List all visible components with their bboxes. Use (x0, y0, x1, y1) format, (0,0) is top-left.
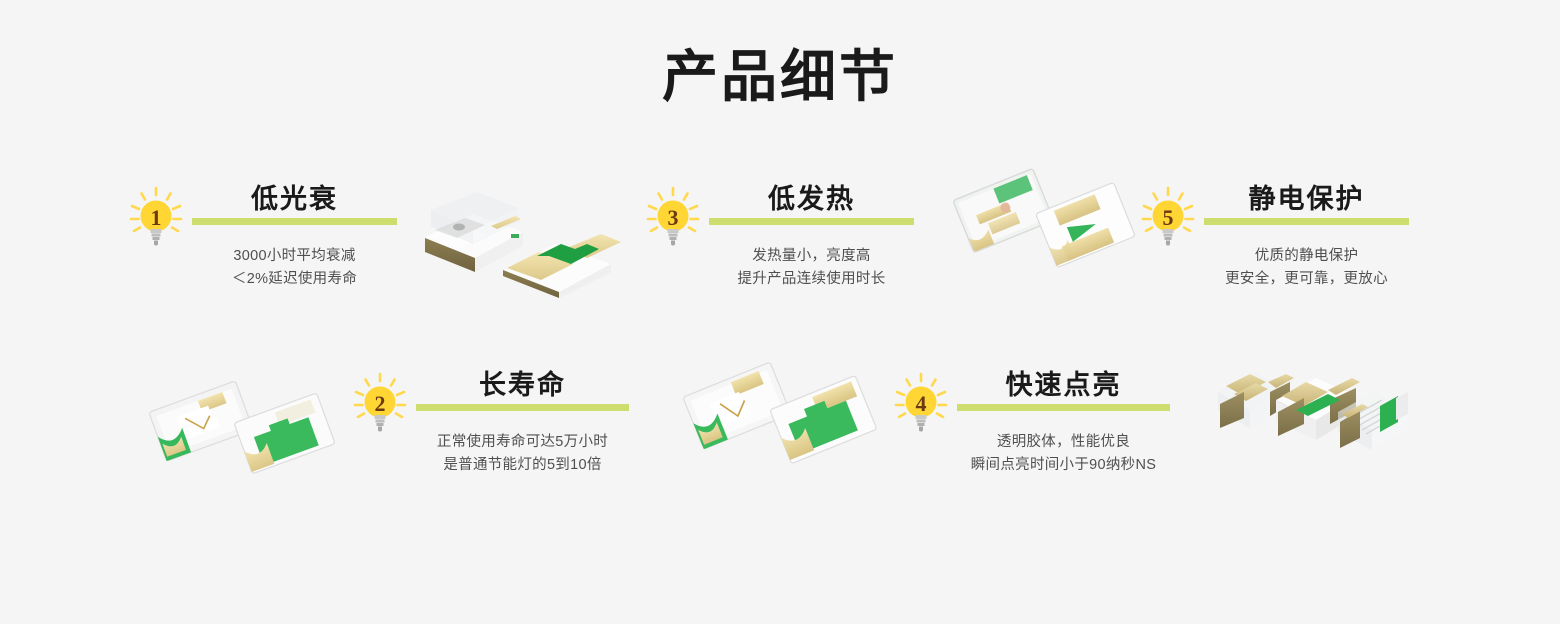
feature-title-5: 静电保护 (1204, 182, 1409, 216)
feature-body-1: 低光衰 3000小时平均衰减 ＜2%延迟使用寿命 (184, 182, 397, 291)
led-render-5 (1210, 348, 1415, 476)
led-render-2 (945, 160, 1135, 280)
feature-number-4: 4 (916, 391, 927, 416)
feature-body-3: 低发热 发热量小，亮度高 提升产品连续使用时长 (701, 182, 914, 291)
page-title: 产品细节 (0, 42, 1560, 112)
feature-description-1: 3000小时平均衰减 ＜2%延迟使用寿命 (192, 245, 397, 291)
smd-led-pair-clear-and-green-die (415, 186, 630, 301)
lightbulb-icon-svg: 5 (1140, 186, 1196, 248)
feature-number-1: 1 (151, 205, 162, 230)
lightbulb-icon: 2 (352, 372, 408, 434)
led-render-1 (415, 186, 630, 301)
led-render-4 (678, 348, 878, 476)
feature-description-2: 正常使用寿命可达5万小时 是普通节能灯的5到10倍 (416, 431, 629, 477)
lightbulb-icon-svg: 2 (352, 372, 408, 434)
feature-underline-1 (192, 218, 397, 225)
smd-led-pair-green-pad (145, 365, 335, 485)
feature-title-1: 低光衰 (192, 182, 397, 216)
lightbulb-icon-svg: 4 (893, 372, 949, 434)
feature-desc-line-2b: 是普通节能灯的5到10倍 (416, 454, 629, 477)
feature-desc-line-3b: 提升产品连续使用时长 (709, 268, 914, 291)
feature-number-3: 3 (668, 205, 679, 230)
feature-block-1: 1 低光衰 3000小时平均衰减 ＜2%延迟使用寿命 (128, 182, 397, 291)
feature-desc-line-5b: 更安全，更可靠，更放心 (1204, 268, 1409, 291)
feature-underline-2 (416, 404, 629, 411)
feature-desc-line-1a: 3000小时平均衰减 (192, 245, 397, 268)
feature-title-3: 低发热 (709, 182, 914, 216)
feature-block-4: 4 快速点亮 透明胶体，性能优良 瞬间点亮时间小于90纳秒NS (893, 368, 1170, 477)
product-detail-page: 产品细节 1 (0, 0, 1560, 624)
lightbulb-icon: 5 (1140, 186, 1196, 248)
feature-number-5: 5 (1163, 205, 1174, 230)
feature-body-2: 长寿命 正常使用寿命可达5万小时 是普通节能灯的5到10倍 (408, 368, 629, 477)
feature-title-2: 长寿命 (416, 368, 629, 402)
feature-number-2: 2 (375, 391, 386, 416)
feature-underline-3 (709, 218, 914, 225)
lightbulb-icon-svg: 3 (645, 186, 701, 248)
feature-desc-line-1b: ＜2%延迟使用寿命 (192, 268, 397, 291)
feature-desc-line-3a: 发热量小，亮度高 (709, 245, 914, 268)
feature-title-4: 快速点亮 (957, 368, 1170, 402)
lightbulb-icon-svg: 1 (128, 186, 184, 248)
smd-led-pair-green-triangle (945, 160, 1135, 280)
feature-block-5: 5 静电保护 优质的静电保护 更安全，更可靠，更放心 (1140, 182, 1409, 291)
feature-block-3: 3 低发热 发热量小，亮度高 提升产品连续使用时长 (645, 182, 914, 291)
feature-underline-5 (1204, 218, 1409, 225)
feature-desc-line-4a: 透明胶体，性能优良 (957, 431, 1170, 454)
feature-body-4: 快速点亮 透明胶体，性能优良 瞬间点亮时间小于90纳秒NS (949, 368, 1170, 477)
led-render-3 (145, 365, 335, 485)
feature-desc-line-4b: 瞬间点亮时间小于90纳秒NS (957, 454, 1170, 477)
feature-block-2: 2 长寿命 正常使用寿命可达5万小时 是普通节能灯的5到10倍 (352, 368, 629, 477)
feature-description-3: 发热量小，亮度高 提升产品连续使用时长 (709, 245, 914, 291)
feature-underline-4 (957, 404, 1170, 411)
feature-desc-line-5a: 优质的静电保护 (1204, 245, 1409, 268)
lightbulb-icon: 1 (128, 186, 184, 248)
feature-description-4: 透明胶体，性能优良 瞬间点亮时间小于90纳秒NS (957, 431, 1170, 477)
lightbulb-icon: 3 (645, 186, 701, 248)
smd-led-trio-side-view (1210, 348, 1415, 476)
smd-led-pair-gold-pads (678, 348, 878, 476)
feature-desc-line-2a: 正常使用寿命可达5万小时 (416, 431, 629, 454)
feature-description-5: 优质的静电保护 更安全，更可靠，更放心 (1204, 245, 1409, 291)
lightbulb-icon: 4 (893, 372, 949, 434)
feature-body-5: 静电保护 优质的静电保护 更安全，更可靠，更放心 (1196, 182, 1409, 291)
